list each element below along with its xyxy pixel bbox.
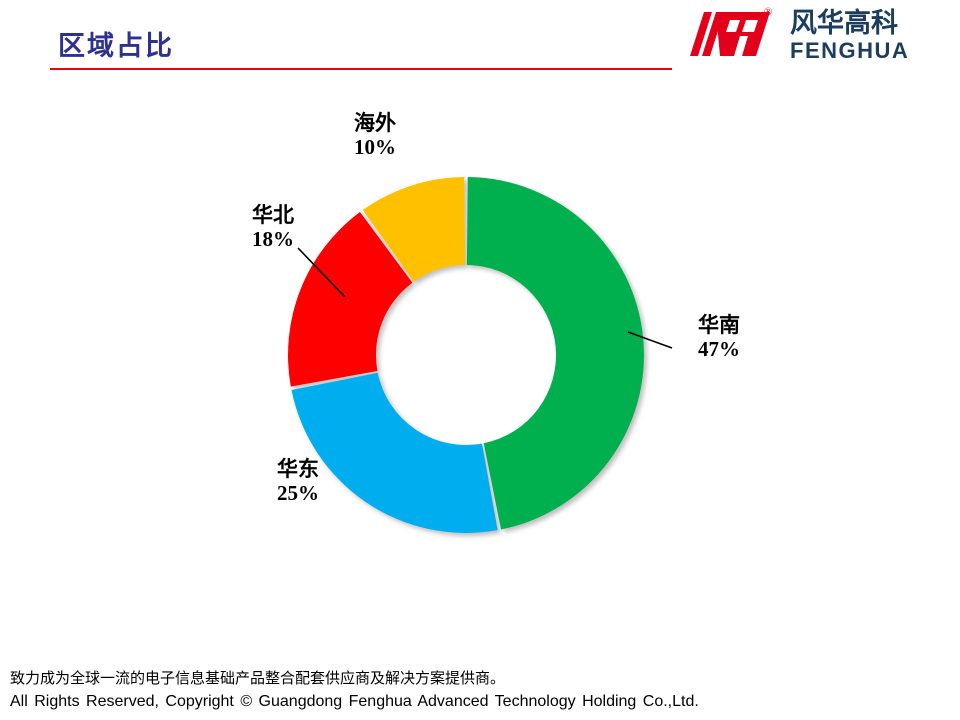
donut-slice-1 bbox=[291, 373, 497, 533]
slice-label-east-name: 华东 bbox=[243, 458, 353, 482]
slice-label-south-name: 华南 bbox=[664, 314, 774, 338]
logo-company-name-en: FENGHUA bbox=[790, 39, 909, 63]
slice-label-north-name: 华北 bbox=[218, 204, 328, 228]
slice-label-south: 华南 47% bbox=[664, 314, 774, 361]
slice-label-overseas-value: 10% bbox=[316, 136, 434, 160]
fenghua-logo-mark-icon bbox=[678, 10, 776, 58]
footer-copyright-en: All Rights Reserved, Copyright © Guangdo… bbox=[10, 690, 960, 714]
slide-header: 区域占比 ® 风华高科 FENGHUA bbox=[0, 0, 960, 80]
title-underline-rule bbox=[50, 68, 672, 70]
company-logo: ® 风华高科 FENGHUA bbox=[678, 6, 938, 68]
slice-label-north-value: 18% bbox=[218, 228, 328, 252]
page-title: 区域占比 bbox=[58, 24, 174, 63]
slice-label-east: 华东 25% bbox=[243, 458, 353, 505]
slice-label-north: 华北 18% bbox=[218, 204, 328, 251]
donut-chart-svg bbox=[0, 86, 960, 626]
logo-company-name-cn: 风华高科 bbox=[790, 8, 898, 38]
slice-label-east-value: 25% bbox=[243, 482, 353, 506]
registered-trademark-icon: ® bbox=[764, 6, 772, 18]
slice-label-south-value: 47% bbox=[664, 338, 774, 362]
region-share-donut-chart: 海外 10% 华北 18% 华东 25% 华南 47% bbox=[0, 86, 960, 626]
donut-slice-0 bbox=[467, 177, 644, 530]
footer-slogan-cn: 致力成为全球一流的电子信息基础产品整合配套供应商及解决方案提供商。 bbox=[10, 668, 960, 690]
slice-label-overseas: 海外 10% bbox=[316, 112, 434, 159]
slice-label-overseas-name: 海外 bbox=[316, 112, 434, 136]
slide-footer: 致力成为全球一流的电子信息基础产品整合配套供应商及解决方案提供商。 All Ri… bbox=[0, 668, 960, 714]
